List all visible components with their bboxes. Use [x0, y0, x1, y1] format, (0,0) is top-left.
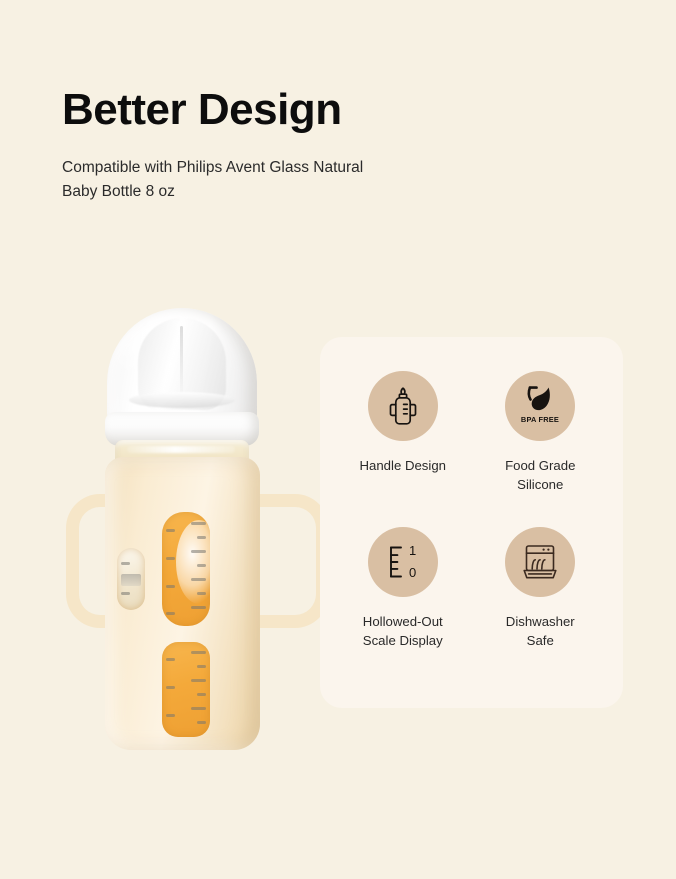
bpa-free-leaf-icon: BPA FREE	[515, 383, 565, 429]
sleeve-window-side	[117, 548, 145, 610]
nipple-seam	[180, 326, 183, 398]
bpa-free-badge-text: BPA FREE	[521, 415, 559, 424]
glass-highlight	[127, 446, 235, 453]
nipple-base-ring	[129, 392, 235, 408]
product-image	[55, 300, 305, 750]
feature-grid: Handle Design BPA FREE Food Grade Silico…	[320, 337, 623, 708]
feature-dishwasher-safe: Dishwasher Safe	[472, 527, 610, 683]
icon-circle: BPA FREE	[505, 371, 575, 441]
page-subtitle: Compatible with Philips Avent Glass Natu…	[62, 156, 392, 203]
measuring-scale-icon: 1 0	[381, 542, 425, 582]
feature-scale-display: 1 0 Hollowed-Out Scale Display	[334, 527, 472, 683]
sleeve-window-upper	[162, 512, 210, 626]
feature-handle-design: Handle Design	[334, 371, 472, 527]
feature-card: Handle Design BPA FREE Food Grade Silico…	[320, 337, 623, 708]
icon-circle: 1 0	[368, 527, 438, 597]
page-title: Better Design	[62, 86, 392, 134]
side-scale-label	[121, 574, 141, 586]
header: Better Design Compatible with Philips Av…	[62, 86, 392, 203]
sleeve-window-lower	[162, 642, 210, 737]
scale-bottom-number: 0	[409, 565, 416, 580]
baby-bottle-icon	[386, 386, 420, 426]
scale-top-number: 1	[409, 543, 416, 558]
feature-label: Dishwasher Safe	[506, 612, 575, 650]
feature-label: Handle Design	[359, 456, 446, 475]
feature-food-grade-silicone: BPA FREE Food Grade Silicone	[472, 371, 610, 527]
icon-circle	[505, 527, 575, 597]
dishwasher-icon	[519, 542, 561, 582]
feature-label: Food Grade Silicone	[505, 456, 575, 494]
icon-circle	[368, 371, 438, 441]
feature-label: Hollowed-Out Scale Display	[363, 612, 443, 650]
